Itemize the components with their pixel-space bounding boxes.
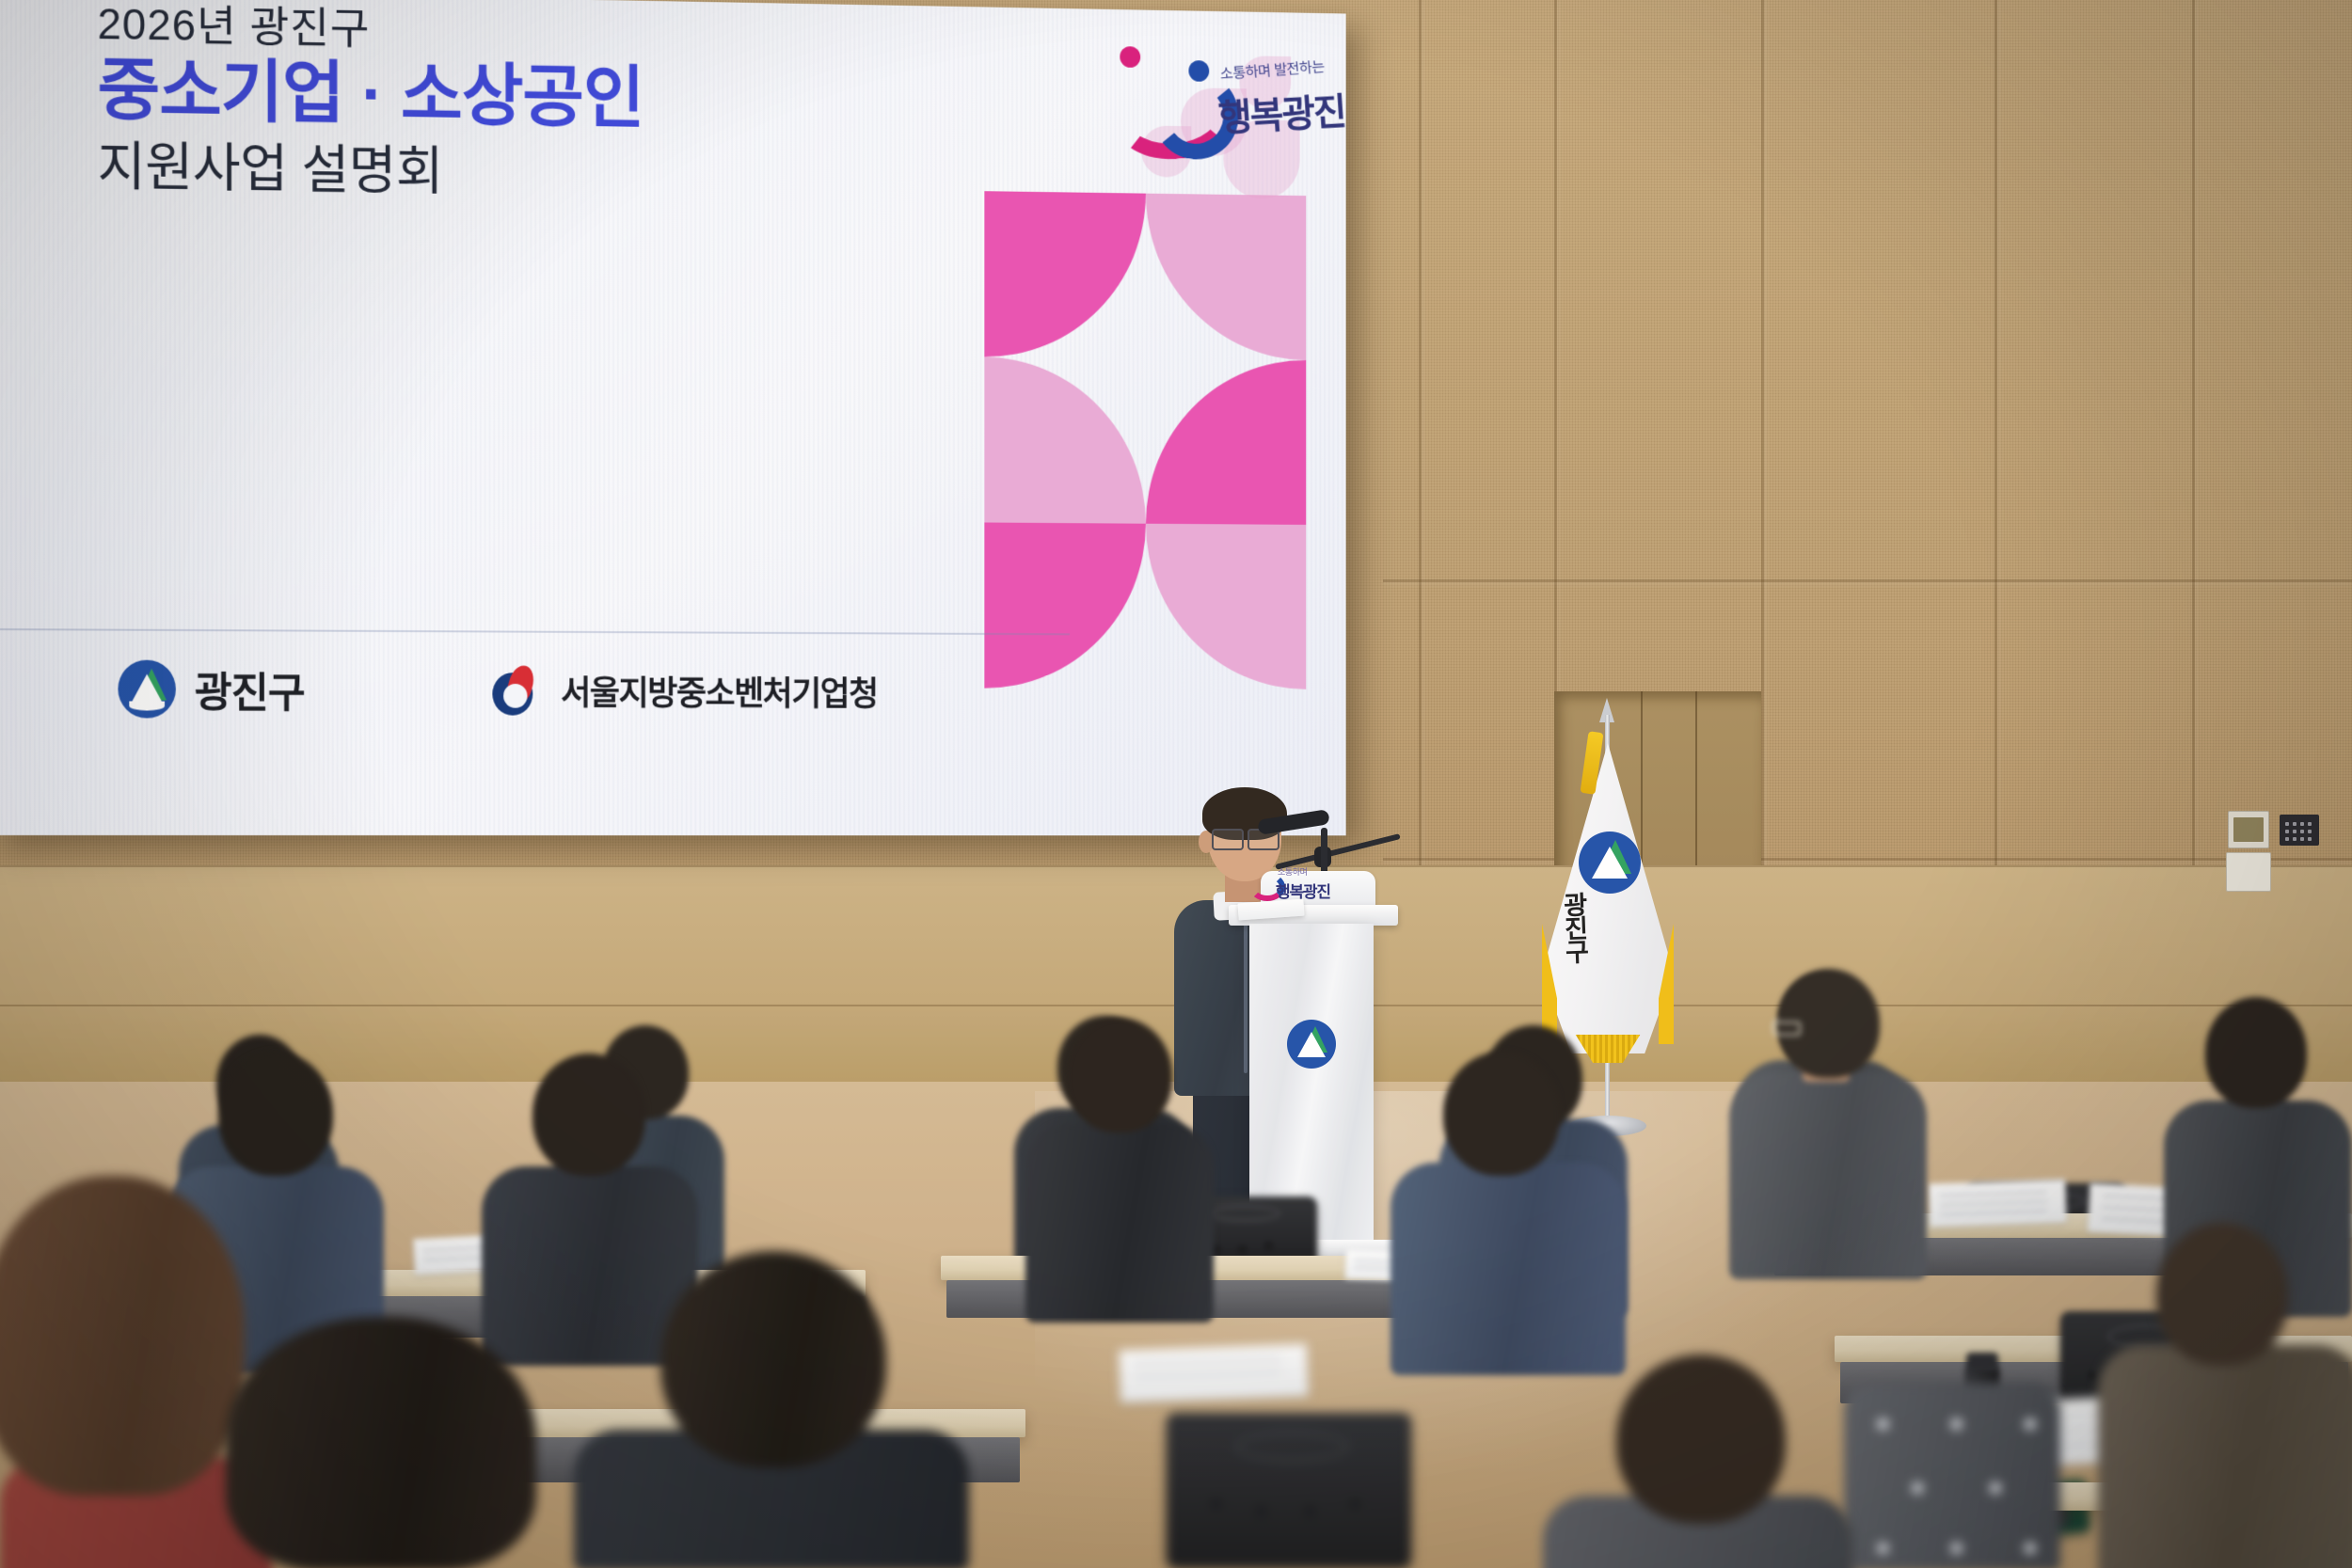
handout-booklet bbox=[1928, 1179, 2067, 1227]
attendee bbox=[1844, 1383, 2060, 1568]
logo-seoul-sme: 서울지방중소벤처기업청 bbox=[489, 663, 878, 719]
photograph-scene: 2026년 광진구 중소기업 · 소상공인 지원사업 설명회 광진구 bbox=[0, 0, 2352, 1568]
podium-brand-tagline: 소통하며 bbox=[1278, 865, 1308, 878]
slide-divider-rule bbox=[0, 628, 1070, 635]
attendee bbox=[2098, 1223, 2352, 1568]
projection-screen: 2026년 광진구 중소기업 · 소상공인 지원사업 설명회 광진구 bbox=[0, 0, 1346, 835]
wall-seam bbox=[1383, 579, 2352, 582]
korea-government-taegeuk-icon bbox=[489, 663, 543, 718]
attendee bbox=[574, 1251, 969, 1568]
slide-title-sub: 지원사업 설명회 bbox=[98, 135, 743, 207]
conference-chair[interactable] bbox=[1167, 1413, 1411, 1568]
podium-emblem-icon bbox=[1287, 1020, 1336, 1069]
attendee bbox=[226, 1317, 536, 1568]
gwangjin-gu-emblem-icon bbox=[118, 660, 175, 719]
brand-tagline: 소통하며 발전하는 bbox=[1219, 55, 1326, 84]
wall-sign-plate bbox=[2226, 852, 2271, 892]
wall-control-panel-white[interactable] bbox=[2228, 811, 2269, 848]
wall-keypad-panel-black[interactable] bbox=[2280, 815, 2319, 846]
happy-gwangjin-brand: 소통하며 발전하는 행복광진 bbox=[1105, 33, 1311, 174]
attendee bbox=[1729, 969, 1927, 1270]
handout-booklet bbox=[1119, 1344, 1309, 1403]
slide-logo-row: 광진구 서울지방중소벤처기업청 bbox=[118, 659, 877, 721]
smile-dot-pink-icon bbox=[1120, 46, 1140, 68]
water-bottle-cap bbox=[1966, 1353, 1998, 1371]
flag-label: 광진구 bbox=[1555, 891, 1595, 962]
logo-seoul-sme-label: 서울지방중소벤처기업청 bbox=[561, 666, 878, 715]
wall-seam bbox=[1554, 0, 1557, 696]
wall-seam bbox=[1383, 858, 2352, 861]
pinwheel-petal-graphic bbox=[984, 191, 1306, 762]
slide-title-block: 2026년 광진구 중소기업 · 소상공인 지원사업 설명회 bbox=[98, 0, 743, 206]
brand-name: 행복광진 bbox=[1216, 80, 1346, 142]
slide-title-main: 중소기업 · 소상공인 bbox=[98, 51, 743, 140]
attendee bbox=[1543, 1354, 1853, 1568]
logo-gwangjin-gu: 광진구 bbox=[118, 659, 304, 720]
slide-title-year: 2026년 광진구 bbox=[98, 0, 743, 60]
attendee bbox=[1391, 1052, 1626, 1362]
smile-dot-blue-icon bbox=[1188, 60, 1209, 82]
flag-emblem-icon bbox=[1579, 832, 1641, 894]
logo-gwangjin-gu-label: 광진구 bbox=[195, 659, 305, 720]
attendee bbox=[1025, 1018, 1214, 1309]
